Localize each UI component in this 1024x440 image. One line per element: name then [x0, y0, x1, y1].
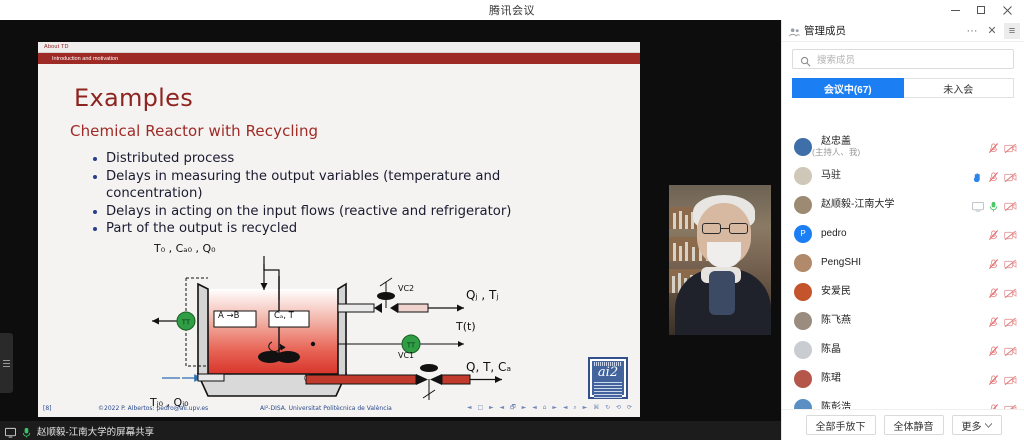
- screen-share-icon: [972, 199, 983, 210]
- participant-list[interactable]: 赵忠盖(主持人、我)马驻赵顺毅-江南大学PpedroPengSHI安爱民陈飞燕陈…: [782, 132, 1024, 409]
- person-scarf: [709, 271, 735, 315]
- participant-name: pedro: [821, 228, 847, 239]
- slide-subtitle: Chemical Reactor with Recycling: [70, 122, 318, 140]
- reactor-diagram: TT TT: [146, 256, 566, 404]
- slide-title: Examples: [74, 84, 193, 112]
- microphone-muted-icon[interactable]: [988, 286, 999, 297]
- participant-name-block: PengSHI: [812, 257, 861, 268]
- svg-text:TT: TT: [181, 319, 191, 327]
- participant-row[interactable]: 陈珺: [782, 364, 1024, 393]
- slide-organization: AI²-DISA. Universitat Politècnica de Val…: [260, 405, 392, 412]
- participant-row[interactable]: 赵顺毅-江南大学: [782, 190, 1024, 219]
- slide-section-label: About TD: [44, 44, 69, 50]
- microphone-muted-icon[interactable]: [988, 228, 999, 239]
- microphone-muted-icon[interactable]: [988, 257, 999, 268]
- lower-all-hands-button[interactable]: 全部手放下: [806, 415, 876, 435]
- avatar: [794, 370, 812, 388]
- participant-name-block: 赵顺毅-江南大学: [812, 199, 894, 210]
- participant-status-icons: [988, 228, 1015, 239]
- glasses-icon: [702, 223, 748, 234]
- participant-name: 陈珺: [821, 373, 841, 384]
- participant-name-block: 陈晶: [812, 344, 841, 355]
- search-icon: [800, 54, 811, 65]
- slide-nav-label: Introduction and motivation: [52, 56, 118, 62]
- camera-off-icon[interactable]: [1004, 315, 1015, 326]
- participant-status-icons: [988, 402, 1015, 409]
- camera-off-icon[interactable]: [1004, 199, 1015, 210]
- participant-row[interactable]: PengSHI: [782, 248, 1024, 277]
- camera-off-icon[interactable]: [1004, 141, 1015, 152]
- diagram-label-out-top: Qⱼ , Tⱼ: [466, 288, 498, 302]
- list-item: Delays in acting on the input flows (rea…: [90, 203, 590, 221]
- screen-share-status-bar: 赵顺毅-江南大学的屏幕共享: [0, 421, 781, 440]
- slide-bullet-list: Distributed process Delays in measuring …: [90, 150, 590, 238]
- avatar: [794, 312, 812, 330]
- microphone-icon: [21, 425, 32, 436]
- avatar: [794, 399, 812, 410]
- participant-row[interactable]: 赵忠盖(主持人、我): [782, 132, 1024, 161]
- camera-off-icon[interactable]: [1004, 373, 1015, 384]
- chevron-down-icon: [985, 420, 992, 431]
- ai2-logo: ai2: [588, 357, 628, 399]
- participant-video-tile[interactable]: [669, 185, 771, 335]
- members-panel-header: 管理成员 ··· ✕ ≡: [782, 20, 1024, 42]
- panel-close-button[interactable]: ✕: [984, 23, 1000, 39]
- participant-row[interactable]: 马驻: [782, 161, 1024, 190]
- slide-footer: [8] ©2022 P. Albertos: pedro@aii.upv.es …: [38, 402, 640, 414]
- camera-off-icon[interactable]: [1004, 344, 1015, 355]
- participant-row[interactable]: 安爱民: [782, 277, 1024, 306]
- close-button[interactable]: [994, 0, 1020, 20]
- participant-name-block: pedro: [812, 228, 847, 239]
- screen-share-label: 赵顺毅-江南大学的屏幕共享: [37, 424, 154, 438]
- logo-text: ai2: [592, 366, 624, 380]
- search-placeholder: 搜索成员: [817, 52, 855, 66]
- members-icon: [789, 25, 800, 36]
- participant-name-block: 赵忠盖(主持人、我): [812, 136, 860, 157]
- participant-name: 赵顺毅-江南大学: [821, 199, 894, 210]
- participant-row[interactable]: 陈飞燕: [782, 306, 1024, 335]
- list-item: Distributed process: [90, 150, 590, 168]
- participant-role: (主持人、我): [812, 147, 860, 157]
- panel-more-button[interactable]: ···: [964, 23, 980, 39]
- participant-name-block: 马驻: [812, 170, 841, 181]
- avatar: [794, 254, 812, 272]
- participant-name-block: 陈飞燕: [812, 315, 851, 326]
- participant-name: 陈彭浩: [821, 402, 851, 409]
- avatar: P: [794, 225, 812, 243]
- logo-text-band: [594, 382, 622, 398]
- members-panel: 管理成员 ··· ✕ ≡ 搜索成员 会议中(67) 未入会 赵忠盖(主持人、我)…: [781, 20, 1024, 440]
- raise-hand-icon: [972, 170, 983, 181]
- avatar: [794, 341, 812, 359]
- camera-off-icon[interactable]: [1004, 257, 1015, 268]
- window-titlebar: 腾讯会议: [0, 0, 1024, 20]
- participant-status-icons: [972, 199, 1015, 210]
- microphone-muted-icon[interactable]: [988, 315, 999, 326]
- participant-name: 陈晶: [821, 344, 841, 355]
- participant-name-block: 安爱民: [812, 286, 851, 297]
- participant-name: 赵忠盖: [821, 136, 860, 147]
- lower-all-hands-label: 全部手放下: [816, 418, 866, 433]
- list-item: Part of the output is recycled: [90, 220, 590, 238]
- maximize-button[interactable]: [968, 0, 994, 20]
- members-tabs: 会议中(67) 未入会: [792, 78, 1014, 98]
- participant-status-icons: [988, 373, 1015, 384]
- hamburger-icon: [3, 358, 10, 369]
- participant-name: 安爱民: [821, 286, 851, 297]
- microphone-muted-icon[interactable]: [988, 373, 999, 384]
- more-options-button[interactable]: 更多: [952, 415, 1002, 435]
- app-title: 腾讯会议: [489, 2, 535, 18]
- panel-menu-button[interactable]: ≡: [1004, 23, 1020, 39]
- diagram-label-reaction: A →B: [218, 311, 239, 321]
- slide-nav-icons[interactable]: ◄ □ ► ◄ 🗗 ► ◄ ⌂ ► ◄ ⌕ ► ⌘ ↻ ⟲ ⟳: [467, 403, 634, 413]
- slide-section-bar: About TD: [38, 42, 640, 53]
- diagram-label-vc1: VC1: [398, 351, 414, 360]
- sidebar-toggle-handle[interactable]: [0, 333, 13, 393]
- window-controls: [942, 0, 1020, 20]
- camera-off-icon[interactable]: [1004, 170, 1015, 181]
- list-item: Delays in measuring the output variables…: [90, 168, 590, 203]
- camera-off-icon[interactable]: [1004, 286, 1015, 297]
- members-panel-footer: 全部手放下 全体静音 更多: [782, 409, 1024, 440]
- slide-body: Examples Chemical Reactor with Recycling…: [38, 64, 640, 417]
- participant-status-icons: [988, 286, 1015, 297]
- person-beard: [707, 242, 741, 268]
- mute-all-button[interactable]: 全体静音: [884, 415, 944, 435]
- participant-row[interactable]: 陈晶: [782, 335, 1024, 364]
- diagram-label-state: Cₐ, T: [274, 311, 294, 321]
- participant-row[interactable]: 陈彭浩: [782, 393, 1024, 409]
- shared-screen-stage: About TD Introduction and motivation Exa…: [0, 20, 781, 421]
- participant-name: 马驻: [821, 170, 841, 181]
- diagram-label-out-mid: T(t): [456, 320, 476, 333]
- mute-all-label: 全体静音: [894, 418, 934, 433]
- tab-not-joined[interactable]: 未入会: [904, 78, 1015, 98]
- camera-off-icon[interactable]: [1004, 402, 1015, 409]
- search-members-box[interactable]: 搜索成员: [792, 49, 1014, 69]
- diagram-label-vc2: VC2: [398, 284, 414, 293]
- microphone-muted-icon[interactable]: [988, 344, 999, 355]
- microphone-muted-icon[interactable]: [988, 402, 999, 409]
- minimize-button[interactable]: [942, 0, 968, 20]
- participant-row[interactable]: Ppedro: [782, 219, 1024, 248]
- slide-copyright: ©2022 P. Albertos: pedro@aii.upv.es: [98, 405, 208, 412]
- panel-title: 管理成员: [804, 23, 846, 38]
- participant-name: PengSHI: [821, 257, 861, 268]
- participant-name: 陈飞燕: [821, 315, 851, 326]
- svg-text:TT: TT: [406, 342, 416, 350]
- tab-in-meeting[interactable]: 会议中(67): [792, 78, 904, 98]
- microphone-on-icon[interactable]: [988, 199, 999, 210]
- screen-share-icon: [5, 425, 16, 436]
- diagram-label-inlet-top: T₀ , Cₐ₀ , Q₀: [154, 242, 216, 255]
- presentation-slide: About TD Introduction and motivation Exa…: [38, 42, 640, 417]
- slide-page-number: [8]: [43, 405, 52, 412]
- avatar: [794, 138, 812, 156]
- participant-status-icons: [988, 257, 1015, 268]
- participant-status-icons: [972, 170, 1015, 181]
- participant-name-block: 陈珺: [812, 373, 841, 384]
- participant-name-block: 陈彭浩: [812, 402, 851, 409]
- camera-off-icon[interactable]: [1004, 228, 1015, 239]
- participant-status-icons: [988, 315, 1015, 326]
- avatar: [794, 167, 812, 185]
- participant-status-icons: [988, 344, 1015, 355]
- participant-status-icons: [988, 141, 1015, 152]
- avatar: [794, 283, 812, 301]
- avatar: [794, 196, 812, 214]
- reactor-diagram-svg: TT TT: [146, 256, 566, 404]
- microphone-muted-icon[interactable]: [988, 170, 999, 181]
- slide-nav-bar: Introduction and motivation: [38, 53, 640, 64]
- more-options-label: 更多: [962, 418, 982, 433]
- diagram-label-out-bottom: Q, T, Cₐ: [466, 360, 511, 374]
- microphone-muted-icon[interactable]: [988, 141, 999, 152]
